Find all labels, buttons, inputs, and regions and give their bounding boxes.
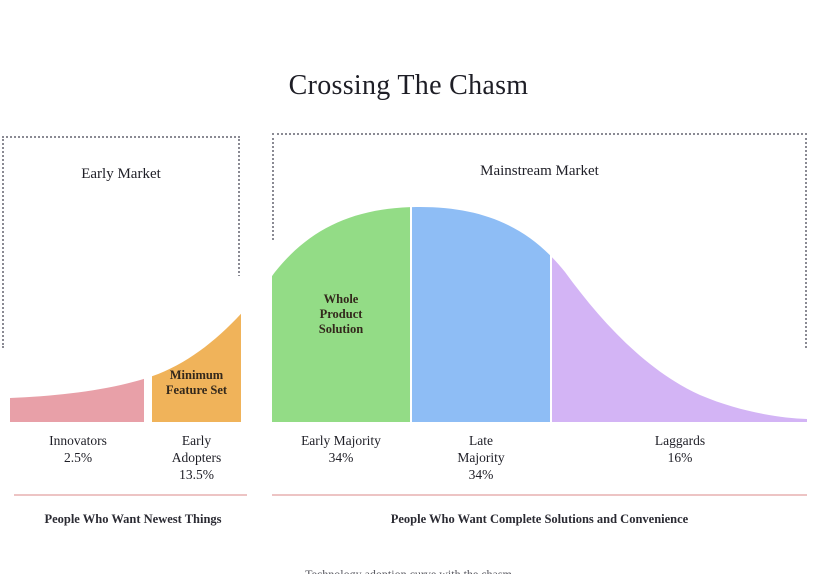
- annotation-line: Product: [272, 307, 410, 322]
- segment-label-name: Early: [152, 432, 241, 449]
- bracket-caption-early-market: People Who Want Newest Things: [0, 512, 266, 527]
- annotation-line: Feature Set: [152, 383, 241, 398]
- adoption-curve: [0, 0, 817, 574]
- annotation-line: Solution: [272, 322, 410, 337]
- crossing-the-chasm-chart: Crossing The Chasm Early Market Mainstre…: [0, 0, 817, 574]
- segment-label-name: Early Majority: [272, 432, 410, 449]
- bracket-line-mainstream-market: [272, 494, 807, 496]
- segment-label-late-majority: Late Majority 34%: [412, 432, 550, 483]
- annotation-whole-product-solution: Whole Product Solution: [272, 292, 410, 337]
- segment-label-innovators: Innovators 2.5%: [12, 432, 144, 466]
- segment-label-name: Adopters: [152, 449, 241, 466]
- segment-label-name: Majority: [412, 449, 550, 466]
- segment-label-early-adopters: Early Adopters 13.5%: [152, 432, 241, 483]
- segment-label-percent: 16%: [552, 449, 808, 466]
- segment-label-name: Innovators: [12, 432, 144, 449]
- segment-label-percent: 34%: [412, 466, 550, 483]
- bottom-cropped-caption: Technology adoption curve with the chasm: [0, 562, 817, 574]
- segment-label-laggards: Laggards 16%: [552, 432, 808, 466]
- segment-label-percent: 2.5%: [12, 449, 144, 466]
- annotation-line: Whole: [272, 292, 410, 307]
- segment-label-percent: 13.5%: [152, 466, 241, 483]
- segment-label-percent: 34%: [272, 449, 410, 466]
- segment-label-name: Late: [412, 432, 550, 449]
- segment-label-early-majority: Early Majority 34%: [272, 432, 410, 466]
- segment-label-name: Laggards: [552, 432, 808, 449]
- annotation-line: Minimum: [152, 368, 241, 383]
- bracket-caption-mainstream-market: People Who Want Complete Solutions and C…: [272, 512, 807, 527]
- annotation-minimum-feature-set: Minimum Feature Set: [152, 368, 241, 398]
- bracket-line-early-market: [14, 494, 247, 496]
